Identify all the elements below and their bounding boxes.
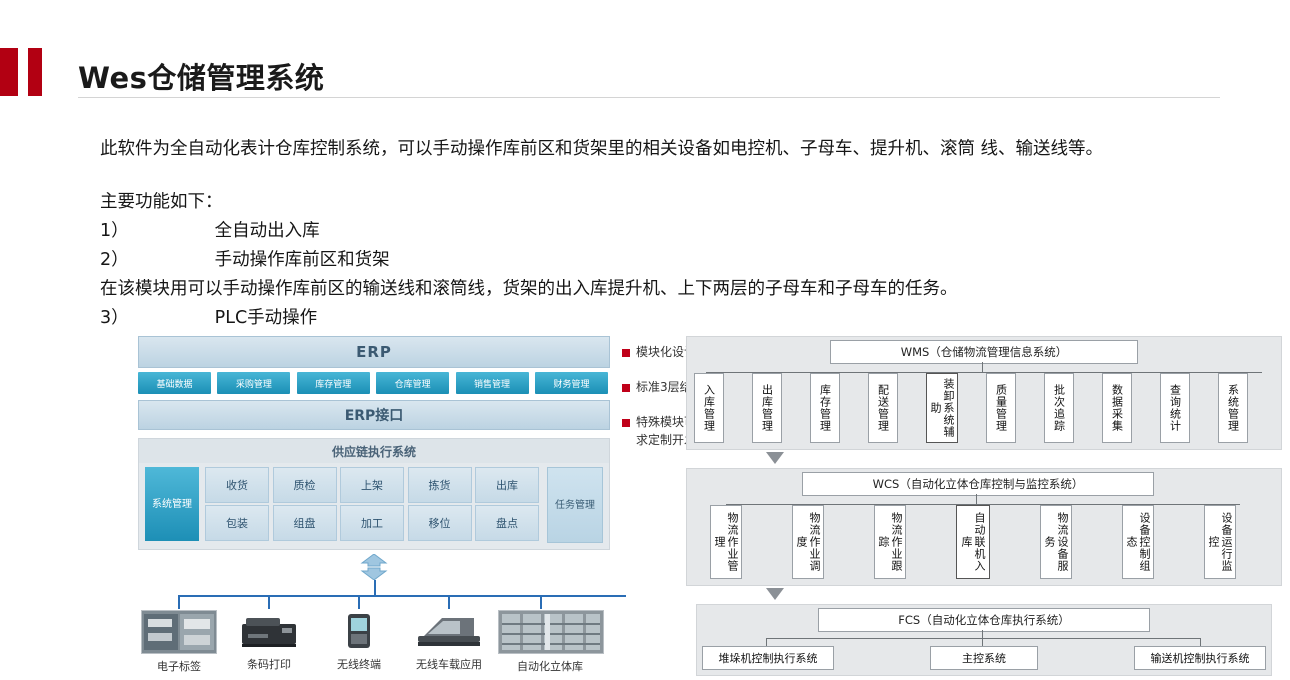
connector-drop	[540, 595, 542, 609]
feature-line: 在该模块用可以手动操作库前区的输送线和滚筒线，货架的出入库提升机、上下两层的子母…	[100, 275, 1260, 304]
feature-line-text: 全自动出入库	[215, 221, 320, 241]
fcs-bus-line	[766, 638, 1200, 639]
fcs-title-box: FCS（自动化立体仓库执行系统）	[818, 608, 1150, 632]
connector-drop	[358, 595, 360, 609]
feature-line-text: PLC手动操作	[215, 308, 318, 328]
device-label: 电子标签	[136, 658, 222, 674]
feature-line: 主要功能如下：	[100, 188, 1260, 217]
erp-chip: 采购管理	[217, 372, 290, 394]
wcs-column: 物流作业管理	[710, 505, 742, 579]
feature-line-number: 2）	[100, 250, 129, 270]
vehicle-mounted-image	[412, 610, 486, 652]
scm-cell: 拣货	[408, 467, 472, 503]
erp-chip: 库存管理	[297, 372, 370, 394]
feature-line: 3）PLC手动操作	[100, 304, 1260, 333]
scm-cell: 上架	[340, 467, 404, 503]
erp-chip: 仓库管理	[376, 372, 449, 394]
wms-column: 数据采集	[1102, 373, 1132, 443]
scm-cell: 组盘	[273, 505, 337, 541]
wms-title-box: WMS（仓储物流管理信息系统）	[830, 340, 1138, 364]
automated-warehouse-image	[498, 610, 604, 654]
scm-cell: 包装	[205, 505, 269, 541]
wms-column: 出库管理	[752, 373, 782, 443]
erp-chip: 基础数据	[138, 372, 211, 394]
erp-module-chips: 基础数据 采购管理 库存管理 仓库管理 销售管理 财务管理	[138, 372, 608, 394]
feature-line: 1）全自动出入库	[100, 217, 1260, 246]
wcs-column: 设备控制组态	[1122, 505, 1154, 579]
scm-cell-row: 包装 组盘 加工 移位 盘点	[205, 505, 539, 541]
device-automated-warehouse: 自动化立体库	[498, 610, 584, 674]
architecture-diagrams: ERP 基础数据 采购管理 库存管理 仓库管理 销售管理 财务管理 ERP接口 …	[130, 332, 1280, 677]
fcs-trunk-line	[982, 630, 983, 638]
wms-column: 质量管理	[986, 373, 1016, 443]
wcs-to-fcs-arrow-icon	[766, 588, 784, 600]
device-label: 无线车载应用	[406, 656, 492, 672]
feature-list: 主要功能如下： 1）全自动出入库 2）手动操作库前区和货架 在该模块用可以手动操…	[100, 188, 1260, 333]
wms-column: 入库管理	[694, 373, 724, 443]
erp-architecture-diagram: ERP 基础数据 采购管理 库存管理 仓库管理 销售管理 财务管理 ERP接口 …	[130, 332, 620, 677]
device-wireless-terminal: 无线终端	[316, 610, 402, 672]
intro-paragraph: 此软件为全自动化表计仓库控制系统，可以手动操作库前区和货架里的相关设备如电控机、…	[100, 136, 1230, 162]
legend-bullet-icon	[622, 419, 630, 427]
supply-chain-title: 供应链执行系统	[139, 439, 609, 463]
wcs-column: 设备运行监控	[1204, 505, 1236, 579]
wms-column-highlighted: 装卸系统辅助	[926, 373, 958, 443]
device-label: 自动化立体库	[498, 658, 602, 674]
system-management-box: 系统管理	[145, 467, 199, 541]
wireless-terminal-image	[322, 610, 396, 652]
fcs-box: 堆垛机控制执行系统	[702, 646, 834, 670]
connector-drop	[268, 595, 270, 609]
connector-vertical	[374, 580, 376, 596]
wms-wcs-fcs-diagram: WMS（仓储物流管理信息系统） 入库管理 出库管理 库存管理 配送管理 装卸系统…	[686, 332, 1280, 677]
scm-cell: 加工	[340, 505, 404, 541]
wms-column: 查询统计	[1160, 373, 1190, 443]
feature-line-text: 在该模块用可以手动操作库前区的输送线和滚筒线，货架的出入库提升机、上下两层的子母…	[100, 279, 958, 299]
erp-chip: 财务管理	[535, 372, 608, 394]
scm-cell: 出库	[475, 467, 539, 503]
device-label: 条码打印	[226, 656, 312, 672]
wcs-column: 物流设备服务	[1040, 505, 1072, 579]
legend-bullet-icon	[622, 349, 630, 357]
device-barcode-printer: 条码打印	[226, 610, 312, 672]
legend-bullet-icon	[622, 384, 630, 392]
scm-cell: 收货	[205, 467, 269, 503]
title-accent-bar-right	[28, 48, 42, 96]
wcs-column: 物流作业跟踪	[874, 505, 906, 579]
wms-column: 系统管理	[1218, 373, 1248, 443]
device-vehicle-mounted: 无线车载应用	[406, 610, 492, 672]
connector-horizontal	[178, 595, 626, 597]
scm-cell-grid: 收货 质检 上架 拣货 出库 包装 组盘 加工 移位 盘点	[205, 467, 539, 541]
feature-line-number: 1）	[100, 221, 129, 241]
connector-drop	[178, 595, 180, 609]
wcs-trunk-line	[976, 494, 977, 504]
electronic-label-image	[141, 610, 217, 654]
wms-column: 配送管理	[868, 373, 898, 443]
feature-line-text: 手动操作库前区和货架	[215, 250, 390, 270]
fcs-drop-line	[1200, 638, 1201, 646]
bidirectional-arrow-icon	[352, 554, 396, 580]
scm-cell: 移位	[408, 505, 472, 541]
feature-line: 2）手动操作库前区和货架	[100, 246, 1260, 275]
feature-line-number: 3）	[100, 308, 129, 328]
scm-cell: 质检	[273, 467, 337, 503]
fcs-drop-line	[766, 638, 767, 646]
wms-trunk-line	[982, 362, 983, 372]
scm-cell-row: 收货 质检 上架 拣货 出库	[205, 467, 539, 503]
task-management-box: 任务管理	[547, 467, 603, 543]
feature-line-text: 主要功能如下：	[100, 192, 223, 212]
barcode-printer-image	[232, 610, 306, 652]
fcs-box: 输送机控制执行系统	[1134, 646, 1266, 670]
erp-box: ERP	[138, 336, 610, 368]
connector-drop	[448, 595, 450, 609]
fcs-box: 主控系统	[930, 646, 1038, 670]
wcs-column-highlighted: 自动联机入库	[956, 505, 990, 579]
device-layer: 电子标签 条码打印	[130, 550, 620, 677]
erp-chip: 销售管理	[456, 372, 529, 394]
erp-interface-box: ERP接口	[138, 400, 610, 430]
device-label: 无线终端	[316, 656, 402, 672]
scm-cell: 盘点	[475, 505, 539, 541]
title-divider	[78, 97, 1220, 98]
wms-to-wcs-arrow-icon	[766, 452, 784, 464]
wcs-column: 物流作业调度	[792, 505, 824, 579]
wms-column: 批次追踪	[1044, 373, 1074, 443]
device-electronic-label: 电子标签	[136, 610, 222, 674]
page-title: Wes仓储管理系统	[78, 55, 324, 97]
title-accent-bar-left	[0, 48, 18, 96]
fcs-drop-line	[982, 638, 983, 646]
wcs-title-box: WCS（自动化立体仓库控制与监控系统）	[802, 472, 1154, 496]
supply-chain-execution-panel: 供应链执行系统 系统管理 收货 质检 上架 拣货 出库 包装 组盘 加工 移位 …	[138, 438, 610, 550]
wms-column: 库存管理	[810, 373, 840, 443]
